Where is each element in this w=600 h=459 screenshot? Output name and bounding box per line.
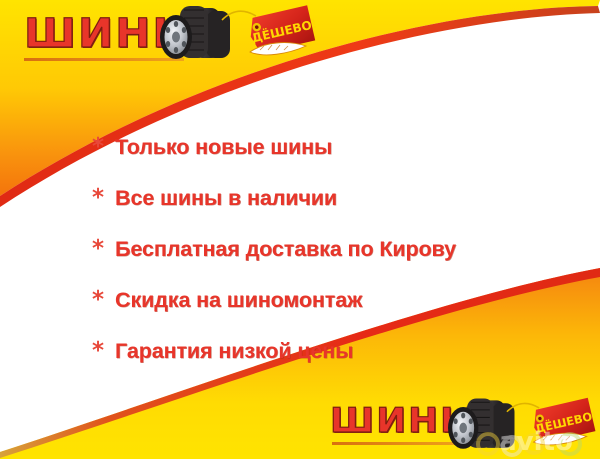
- list-item: * Скидка на шиномонтаж: [92, 289, 592, 340]
- avito-wordmark: avito: [499, 427, 573, 457]
- top-logo: ШИНЫ: [18, 6, 318, 64]
- asterisk-icon: *: [92, 340, 104, 363]
- list-item: * Только новые шины: [92, 136, 592, 187]
- feature-bullet-list: * Только новые шины * Все шины в наличии…: [92, 136, 592, 391]
- list-item: * Гарантия низкой цены: [92, 340, 592, 391]
- list-item: * Все шины в наличии: [92, 187, 592, 238]
- bullet-text: Все шины в наличии: [115, 188, 337, 210]
- asterisk-icon: *: [92, 238, 104, 261]
- avito-watermark: avito: [474, 420, 600, 458]
- tire-shop-advertisement-banner: ШИНЫ: [0, 0, 600, 459]
- asterisk-icon: *: [92, 136, 104, 159]
- bullet-text: Скидка на шиномонтаж: [115, 290, 362, 312]
- top-tire-and-tag-graphic: ДЁШЕВО!: [160, 2, 320, 68]
- asterisk-icon: *: [92, 187, 104, 210]
- alloy-wheel-icon: [160, 15, 192, 59]
- bullet-text: Бесплатная доставка по Кирову: [115, 239, 456, 261]
- bullet-text: Гарантия низкой цены: [115, 341, 353, 363]
- list-item: * Бесплатная доставка по Кирову: [92, 238, 592, 289]
- asterisk-icon: *: [92, 289, 104, 312]
- bullet-text: Только новые шины: [115, 137, 332, 159]
